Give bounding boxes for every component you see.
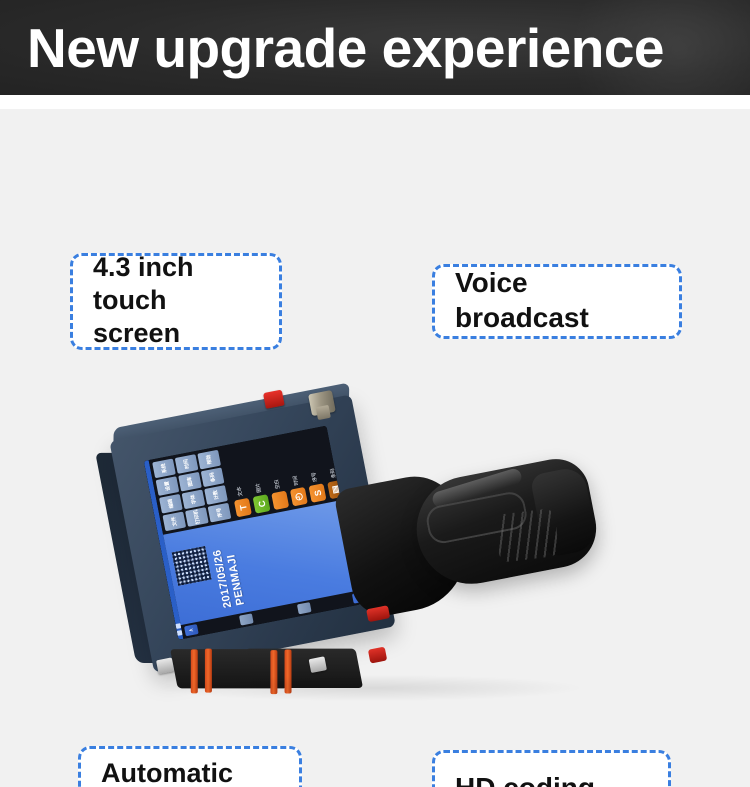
- callout-automatic-storage: Automatic storage: [78, 746, 302, 787]
- menu-tile[interactable]: 计数: [204, 485, 228, 505]
- menu-tile[interactable]: 帮助: [197, 450, 221, 470]
- menu-tile-label: 条码: [208, 472, 217, 483]
- lcd-menu-grid: 文件 编辑 设置 系统 打印机 字体 图库 时间 序号 计数: [149, 446, 235, 535]
- menu-tile-label: 时间: [182, 459, 191, 470]
- image-tool-icon[interactable]: C: [253, 494, 271, 514]
- roller-block: [245, 649, 363, 688]
- roller-ring: [270, 650, 277, 694]
- lcd-rotated-ui: ∧ ∨ 2017/05/26 PENMAJI: [144, 426, 361, 640]
- content-stage: ∧ ∨ 2017/05/26 PENMAJI: [0, 109, 750, 787]
- callout-label: Voice broadcast: [455, 266, 661, 334]
- product-image: ∧ ∨ 2017/05/26 PENMAJI: [120, 394, 640, 724]
- lcd-screen[interactable]: ∧ ∨ 2017/05/26 PENMAJI: [144, 426, 361, 640]
- banner-title: New upgrade experience: [27, 16, 664, 80]
- icon-caption: 空白: [273, 479, 282, 490]
- icon-caption: 图片: [254, 483, 263, 494]
- callout-voice-broadcast: Voice broadcast: [432, 264, 682, 339]
- blank-tool-icon[interactable]: [271, 491, 289, 511]
- menu-tile[interactable]: 图库: [178, 472, 202, 492]
- menu-tile-label: 字体: [189, 494, 198, 505]
- menu-tile[interactable]: 字体: [182, 489, 206, 509]
- serial-number-tool-icon[interactable]: S: [309, 483, 327, 503]
- icon-caption: 文本: [235, 486, 244, 497]
- callout-label: Automatic storage: [101, 757, 233, 787]
- menu-tile-label: 文件: [170, 516, 179, 527]
- menu-tile[interactable]: 文件: [162, 512, 186, 532]
- menu-tile[interactable]: 打印机: [185, 507, 209, 527]
- menu-tile[interactable]: 时间: [175, 454, 199, 474]
- menu-tile-label: 图库: [186, 476, 195, 487]
- banner-divider: [0, 95, 750, 109]
- callout-hd-coding: HD coding: [432, 750, 671, 787]
- menu-tile[interactable]: 条码: [201, 467, 225, 487]
- menu-tile-label: 计数: [212, 490, 221, 501]
- menu-tile-label: 帮助: [205, 454, 214, 465]
- mounting-bolt: [309, 656, 327, 673]
- nav-up-button[interactable]: ∧: [184, 624, 199, 636]
- preview-text-block: 2017/05/26 PENMAJI: [207, 525, 248, 611]
- callout-label: 4.3 inch touch screen: [93, 251, 261, 350]
- roller-ring: [191, 649, 198, 693]
- menu-tile[interactable]: 系统: [152, 459, 176, 479]
- qr-code-icon: [172, 546, 212, 586]
- callout-touch-screen: 4.3 inch touch screen: [70, 253, 282, 350]
- text-tool-icon[interactable]: T: [234, 498, 252, 518]
- lcd-main-area: ∧ ∨ 2017/05/26 PENMAJI: [149, 426, 361, 639]
- pistol-grip[interactable]: [330, 430, 606, 635]
- clock-tool-icon[interactable]: ◴: [290, 487, 308, 507]
- roller-ring: [205, 649, 212, 693]
- nav-spacer: [239, 613, 254, 625]
- icon-caption: 时间: [291, 475, 300, 486]
- nav-spacer: [297, 602, 312, 614]
- icon-caption: 序号: [310, 472, 319, 483]
- menu-tile-label: 设置: [163, 481, 172, 492]
- product-marketing-image: New upgrade experience: [0, 0, 750, 787]
- menu-tile[interactable]: 序号: [208, 503, 232, 523]
- menu-tile-label: 编辑: [167, 498, 176, 509]
- mounting-bolt: [156, 657, 174, 674]
- menu-tile-label: 系统: [160, 463, 169, 474]
- header-banner: New upgrade experience: [0, 0, 750, 95]
- grip-ribs: [494, 508, 559, 563]
- menu-tile-label: 打印机: [192, 509, 202, 524]
- secondary-red-button[interactable]: [368, 647, 387, 664]
- menu-tile-label: 序号: [215, 507, 224, 518]
- menu-tile[interactable]: 设置: [156, 476, 180, 496]
- roller-ring: [285, 649, 292, 693]
- bnc-connector-icon: [308, 390, 336, 416]
- trigger-button[interactable]: [366, 605, 390, 622]
- product-body-group: ∧ ∨ 2017/05/26 PENMAJI: [88, 328, 661, 751]
- callout-label: HD coding: [455, 771, 595, 787]
- menu-tile[interactable]: 编辑: [159, 494, 183, 514]
